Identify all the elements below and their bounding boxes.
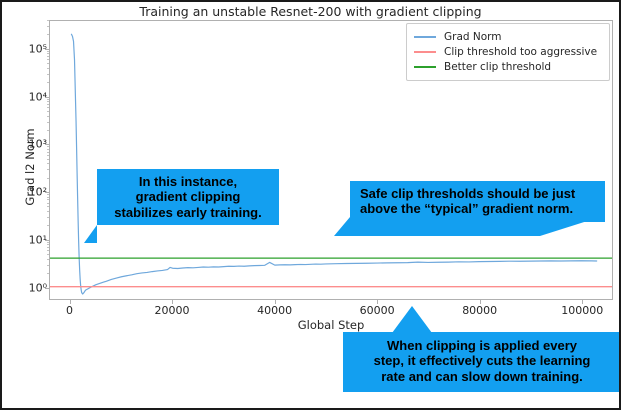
callout-tail-edge-icon [334, 217, 350, 236]
callout-line: rate and can slow down training. [351, 369, 613, 384]
legend-label-clip-aggressive: Clip threshold too aggressive [444, 46, 597, 58]
legend-swatch-grad-norm [414, 36, 436, 38]
matplotlib-figure: Training an unstable Resnet-200 with gra… [2, 2, 619, 408]
legend-item-grad-norm: Grad Norm [414, 29, 602, 44]
legend-label-grad-norm: Grad Norm [444, 31, 502, 43]
x-tick-mark [377, 300, 378, 304]
annotation-callout-learning-rate: When clipping is applied every step, it … [343, 332, 621, 392]
annotation-callout-early-training: In this instance, gradient clipping stab… [97, 169, 279, 225]
x-tick-label: 100000 [561, 304, 603, 317]
callout-text: In this instance, gradient clipping stab… [97, 169, 279, 225]
x-tick-mark [70, 300, 71, 304]
x-tick-label: 20000 [155, 304, 190, 317]
legend-item-better-clip: Better clip threshold [414, 59, 602, 74]
callout-tail-icon [84, 225, 97, 243]
x-tick-label: 60000 [360, 304, 395, 317]
callout-line: In this instance, [105, 174, 271, 189]
callout-line: When clipping is applied every [351, 338, 613, 353]
page-title: Training an unstable Resnet-200 with gra… [2, 4, 619, 19]
callout-text: When clipping is applied every step, it … [343, 332, 621, 392]
x-tick-mark [172, 300, 173, 304]
legend-swatch-better-clip [414, 66, 436, 68]
callout-text: Safe clip thresholds should be just abov… [350, 181, 605, 222]
chart-screenshot: Training an unstable Resnet-200 with gra… [0, 0, 621, 410]
callout-line: gradient clipping [105, 189, 271, 204]
x-axis-label: Global Step [49, 318, 613, 332]
callout-tail-icon [392, 306, 432, 333]
x-tick-label: 40000 [257, 304, 292, 317]
callout-line: above the “typical” gradient norm. [360, 201, 597, 216]
legend-swatch-clip-aggressive [414, 51, 436, 53]
callout-line: stabilizes early training. [105, 205, 271, 220]
annotation-callout-safe-threshold: Safe clip thresholds should be just abov… [350, 181, 605, 222]
legend-label-better-clip: Better clip threshold [444, 61, 551, 73]
x-tick-mark [480, 300, 481, 304]
x-tick-label: 0 [66, 304, 73, 317]
y-axis-label: Grad l2 Norm [23, 92, 37, 242]
x-tick-mark [582, 300, 583, 304]
callout-line: Safe clip thresholds should be just [360, 186, 597, 201]
legend-item-clip-aggressive: Clip threshold too aggressive [414, 44, 602, 59]
callout-line: step, it effectively cuts the learning [351, 353, 613, 368]
x-tick-mark [275, 300, 276, 304]
chart-legend: Grad Norm Clip threshold too aggressive … [406, 23, 610, 81]
x-tick-label: 80000 [462, 304, 497, 317]
